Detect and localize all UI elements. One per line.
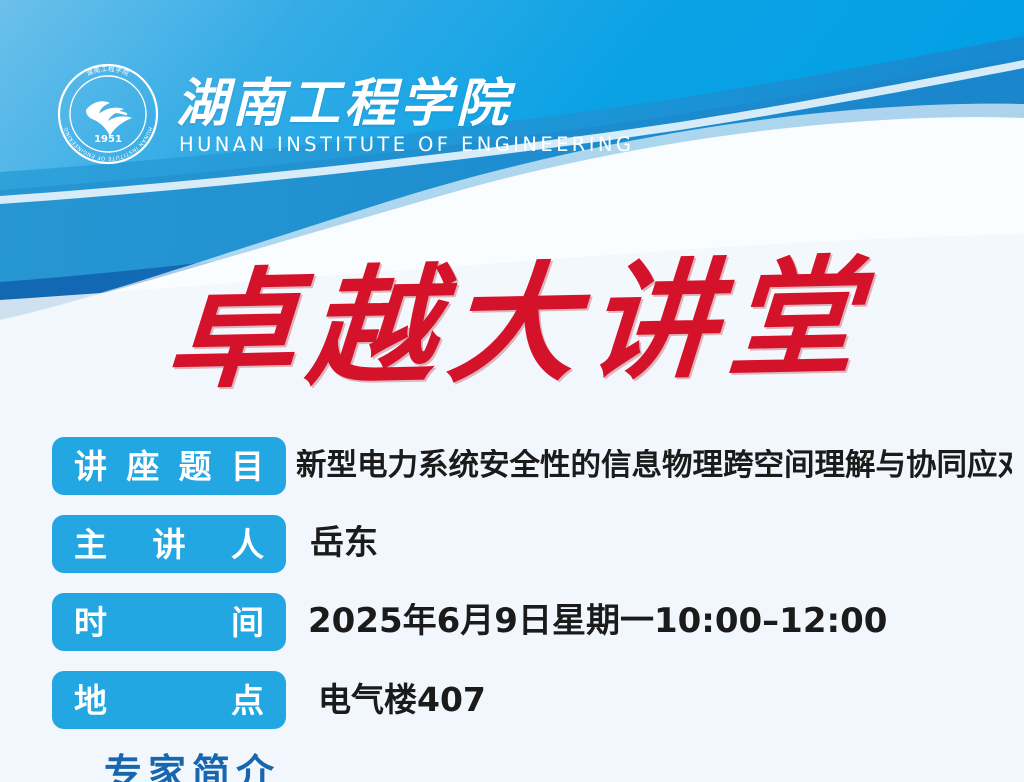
pill-label-time: 时间 — [74, 606, 264, 639]
school-name-cn: 湖南工程学院 — [176, 76, 634, 131]
lecture-info-block: 讲座题目 新型电力系统安全性的信息物理跨空间理解与协同应对机制 主讲人 岳东 时… — [52, 437, 1012, 749]
school-logo-lockup: 1951 湖南工程学院 HUNAN INSTITUTE OF ENGINEERI… — [56, 62, 634, 166]
pill-location: 地点 — [52, 671, 286, 729]
school-name-en: HUNAN INSTITUTE OF ENGINEERING — [176, 133, 634, 156]
main-title: 卓越大讲堂 — [0, 250, 1024, 401]
info-row-speaker: 主讲人 岳东 — [52, 515, 1012, 573]
info-row-location: 地点 电气楼407 — [52, 671, 1012, 729]
value-location: 电气楼407 — [286, 682, 1012, 718]
info-row-time: 时间 2025年6月9日星期一10:00–12:00 — [52, 593, 1012, 651]
main-title-text: 卓越大讲堂 — [150, 243, 873, 409]
lecture-poster: 1951 湖南工程学院 HUNAN INSTITUTE OF ENGINEERI… — [0, 0, 1024, 782]
pill-time: 时间 — [52, 593, 286, 651]
school-name-group: 湖南工程学院 HUNAN INSTITUTE OF ENGINEERING — [176, 72, 634, 156]
pill-speaker: 主讲人 — [52, 515, 286, 573]
value-lecture-title: 新型电力系统安全性的信息物理跨空间理解与协同应对机制 — [286, 449, 1012, 483]
pill-label-location: 地点 — [74, 684, 264, 717]
pill-label-lecture-title: 讲座题目 — [74, 450, 264, 483]
expert-bio-heading: 专家简介 — [104, 752, 280, 782]
value-time: 2025年6月9日星期一10:00–12:00 — [286, 603, 1012, 640]
svg-text:1951: 1951 — [94, 134, 122, 145]
school-emblem-icon: 1951 湖南工程学院 HUNAN INSTITUTE OF ENGINEERI… — [56, 62, 160, 166]
info-row-lecture-title: 讲座题目 新型电力系统安全性的信息物理跨空间理解与协同应对机制 — [52, 437, 1012, 495]
pill-lecture-title: 讲座题目 — [52, 437, 286, 495]
pill-label-speaker: 主讲人 — [74, 528, 264, 561]
value-speaker: 岳东 — [286, 525, 1012, 562]
